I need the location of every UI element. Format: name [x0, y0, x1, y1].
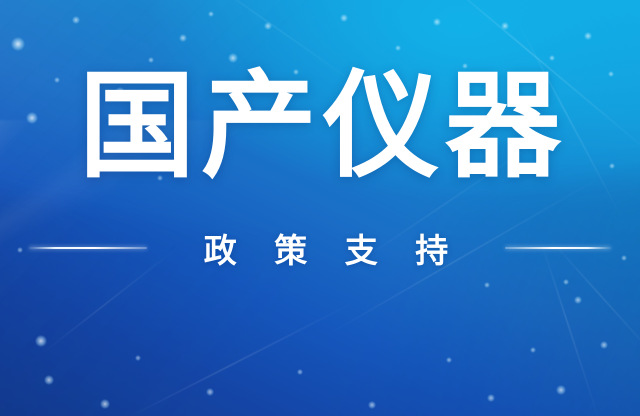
right-rule-decoration [505, 247, 611, 249]
banner-title: 国产仪器 [73, 66, 567, 188]
banner-subtitle-row: 政 策 支 持 [0, 224, 640, 272]
banner-content: 国产仪器 政 策 支 持 [0, 0, 640, 416]
banner-subtitle: 政 策 支 持 [191, 224, 461, 272]
left-rule-decoration [29, 247, 147, 249]
promo-banner: 国产仪器 政 策 支 持 [0, 0, 640, 416]
